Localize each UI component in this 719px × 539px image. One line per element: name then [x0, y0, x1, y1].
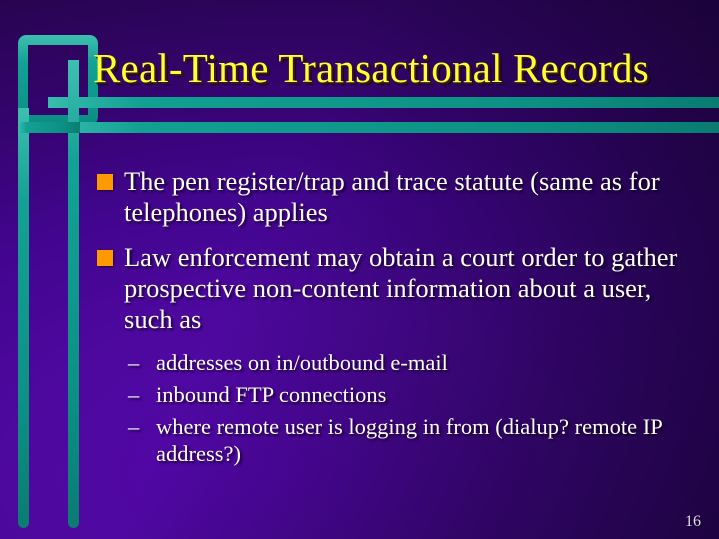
bullet-text: The pen register/trap and trace statute … — [124, 166, 660, 227]
sub-bullet-text: addresses on in/outbound e-mail — [156, 350, 448, 375]
sub-bullet-list: – addresses on in/outbound e-mail – inbo… — [92, 349, 704, 467]
bullet-item: The pen register/trap and trace statute … — [92, 166, 704, 228]
sub-bullet-item: – addresses on in/outbound e-mail — [92, 349, 704, 376]
decorative-title-rule-upper — [48, 97, 719, 108]
page-number: 16 — [685, 513, 701, 531]
slide-body: The pen register/trap and trace statute … — [92, 166, 704, 472]
dash-bullet-icon: – — [128, 381, 139, 408]
bullet-text: Law enforcement may obtain a court order… — [124, 242, 677, 334]
bullet-item: Law enforcement may obtain a court order… — [92, 242, 704, 335]
square-bullet-icon — [97, 174, 113, 190]
sub-bullet-text: inbound FTP connections — [156, 382, 386, 407]
sub-bullet-item: – where remote user is logging in from (… — [92, 413, 704, 467]
square-bullet-icon — [97, 250, 113, 266]
slide-canvas: Real-Time Transactional Records The pen … — [0, 0, 719, 539]
dash-bullet-icon: – — [128, 413, 139, 440]
sub-bullet-item: – inbound FTP connections — [92, 381, 704, 408]
decorative-square-outline — [18, 35, 98, 125]
decorative-vertical-rail-outer — [18, 108, 29, 528]
decorative-connector-bar — [18, 122, 80, 133]
dash-bullet-icon: – — [128, 349, 139, 376]
decorative-vertical-rail-inner — [68, 60, 79, 528]
slide-title: Real-Time Transactional Records — [93, 44, 703, 92]
decorative-title-rule-lower — [48, 122, 719, 133]
sub-bullet-text: where remote user is logging in from (di… — [156, 414, 662, 466]
